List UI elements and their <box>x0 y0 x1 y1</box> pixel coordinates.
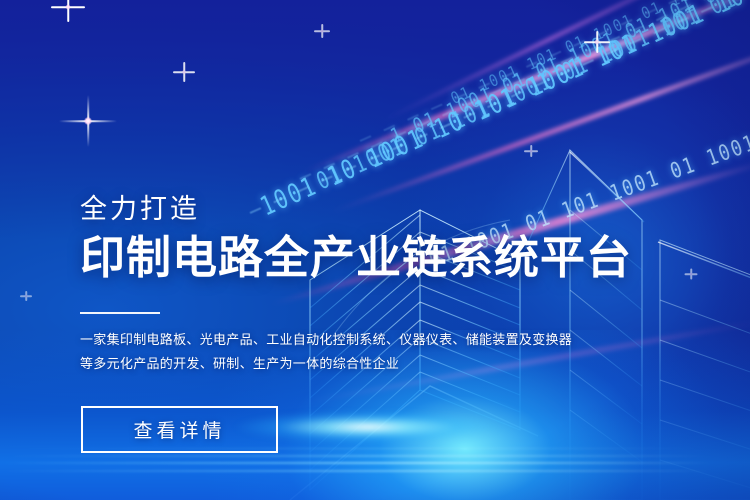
hero-subtitle-line-2: 等多元化产品的开发、研制、生产为一体的综合性企业 <box>80 352 680 376</box>
hero-subtitle: 一家集印制电路板、光电产品、工业自动化控制系统、仪器仪表、储能装置及变换器 等多… <box>80 328 680 376</box>
hero-subtitle-line-1: 一家集印制电路板、光电产品、工业自动化控制系统、仪器仪表、储能装置及变换器 <box>80 328 680 352</box>
hero-content: 全力打造 印制电路全产业链系统平台 一家集印制电路板、光电产品、工业自动化控制系… <box>80 196 680 376</box>
hero-headline: 印制电路全产业链系统平台 <box>80 234 680 282</box>
hero-divider <box>80 312 160 314</box>
view-details-button[interactable]: 查看详情 <box>81 406 278 453</box>
hero-banner: 1001 10 1001 10 101 1001 101 1001 10 100… <box>0 0 750 500</box>
hero-eyebrow: 全力打造 <box>80 196 680 223</box>
